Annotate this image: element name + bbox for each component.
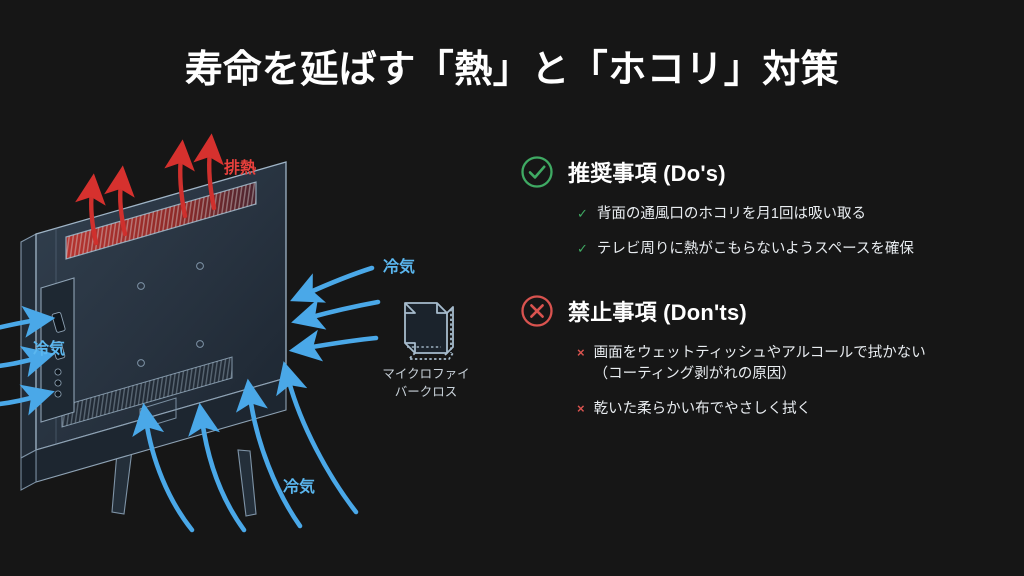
list-item: × 画面をウェットティッシュやアルコールで拭かない（コーティング剥がれの原因） (577, 343, 932, 385)
cloth-caption-line-1: マイクロファイ (370, 365, 482, 383)
tv-airflow-illustration: 排熱 冷気 冷気 冷気 マイクロファイ バークロス (0, 120, 512, 540)
cross-marker: × (577, 399, 585, 419)
x-circle-icon (520, 294, 554, 328)
section-donts-bullets: × 画面をウェットティッシュやアルコールで拭かない（コーティング剥がれの原因） … (520, 343, 990, 420)
list-item-label: 画面をウェットティッシュやアルコールで拭かない（コーティング剥がれの原因） (594, 343, 932, 385)
list-item: ✓ 背面の通風口のホコリを月1回は吸い取る (577, 204, 932, 225)
cross-marker: × (577, 343, 585, 363)
section-dos-bullets: ✓ 背面の通風口のホコリを月1回は吸い取る ✓ テレビ周りに熱がこもらないようス… (520, 204, 990, 260)
cool-air-arrows-right (306, 268, 378, 348)
cloth-caption-line-2: バークロス (370, 383, 482, 401)
section-donts-title: 禁止事項 (Don'ts) (568, 295, 747, 327)
list-item-label: テレビ周りに熱がこもらないようスペースを確保 (597, 239, 914, 260)
section-donts-header: 禁止事項 (Don'ts) (520, 294, 990, 328)
tv-diagram-svg (0, 120, 512, 540)
section-donts: 禁止事項 (Don'ts) × 画面をウェットティッシュやアルコールで拭かない（… (520, 294, 990, 420)
page-title: 寿命を延ばす「熱」と「ホコリ」対策 (0, 48, 1024, 94)
microfiber-cloth-caption: マイクロファイ バークロス (370, 365, 482, 401)
section-dos: 推奨事項 (Do's) ✓ 背面の通風口のホコリを月1回は吸い取る ✓ テレビ周… (520, 155, 990, 260)
list-item-label: 背面の通風口のホコリを月1回は吸い取る (597, 204, 866, 225)
check-marker: ✓ (577, 204, 588, 224)
list-item-label: 乾いた柔らかい布でやさしく拭く (594, 399, 812, 420)
check-circle-icon (520, 155, 554, 189)
microfiber-cloth-icon (405, 303, 453, 359)
list-item: ✓ テレビ周りに熱がこもらないようスペースを確保 (577, 239, 932, 260)
side-port-panel (41, 278, 74, 422)
section-dos-title: 推奨事項 (Do's) (568, 156, 726, 188)
section-dos-header: 推奨事項 (Do's) (520, 155, 990, 189)
guidance-panel: 推奨事項 (Do's) ✓ 背面の通風口のホコリを月1回は吸い取る ✓ テレビ周… (520, 155, 990, 454)
slide-root: 寿命を延ばす「熱」と「ホコリ」対策 (0, 0, 1024, 576)
list-item: × 乾いた柔らかい布でやさしく拭く (577, 399, 932, 420)
check-marker: ✓ (577, 239, 588, 259)
